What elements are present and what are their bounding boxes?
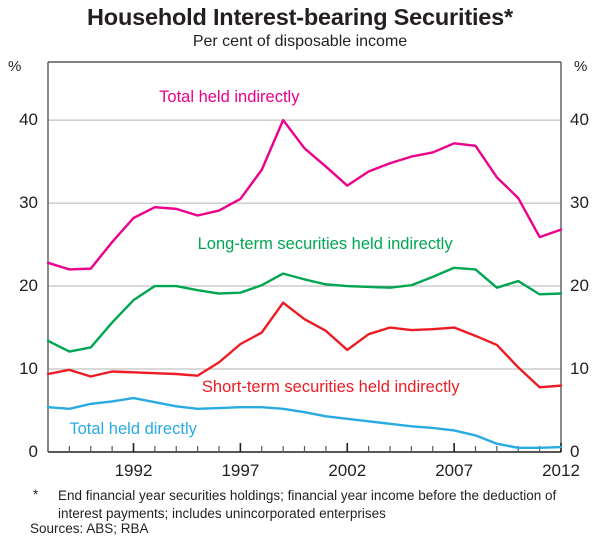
y-axis-label-right: 10: [570, 359, 600, 379]
footnote-text: End financial year securities holdings; …: [58, 487, 558, 522]
series-label: Short-term securities held indirectly: [202, 378, 460, 397]
y-axis-label-right: 30: [570, 193, 600, 213]
x-axis-label: 2012: [531, 461, 591, 481]
data-lines: [48, 120, 561, 448]
y-axis-label-left: 20: [4, 276, 38, 296]
y-axis-label-left: 40: [4, 110, 38, 130]
x-axis-label: 1997: [210, 461, 270, 481]
chart-figure: Household Interest-bearing Securities* P…: [0, 0, 600, 542]
y-axis-label-right: 20: [570, 276, 600, 296]
plot-area: [0, 0, 600, 542]
series-label: Total held directly: [69, 420, 196, 439]
y-axis-label-left: 0: [4, 442, 38, 462]
y-axis-label-right: 40: [570, 110, 600, 130]
x-axis-label: 2007: [424, 461, 484, 481]
x-axis-label: 1992: [104, 461, 164, 481]
y-axis-label-left: 10: [4, 359, 38, 379]
x-axis-ticks: [48, 443, 561, 452]
x-axis-label: 2002: [317, 461, 377, 481]
sources-text: Sources: ABS; RBA: [30, 521, 149, 536]
y-axis-label-right: 0: [570, 442, 600, 462]
y-axis-label-left: 30: [4, 193, 38, 213]
series-label: Long-term securities held indirectly: [198, 235, 453, 254]
series-label: Total held indirectly: [159, 88, 299, 107]
footnote-marker: *: [33, 487, 38, 502]
